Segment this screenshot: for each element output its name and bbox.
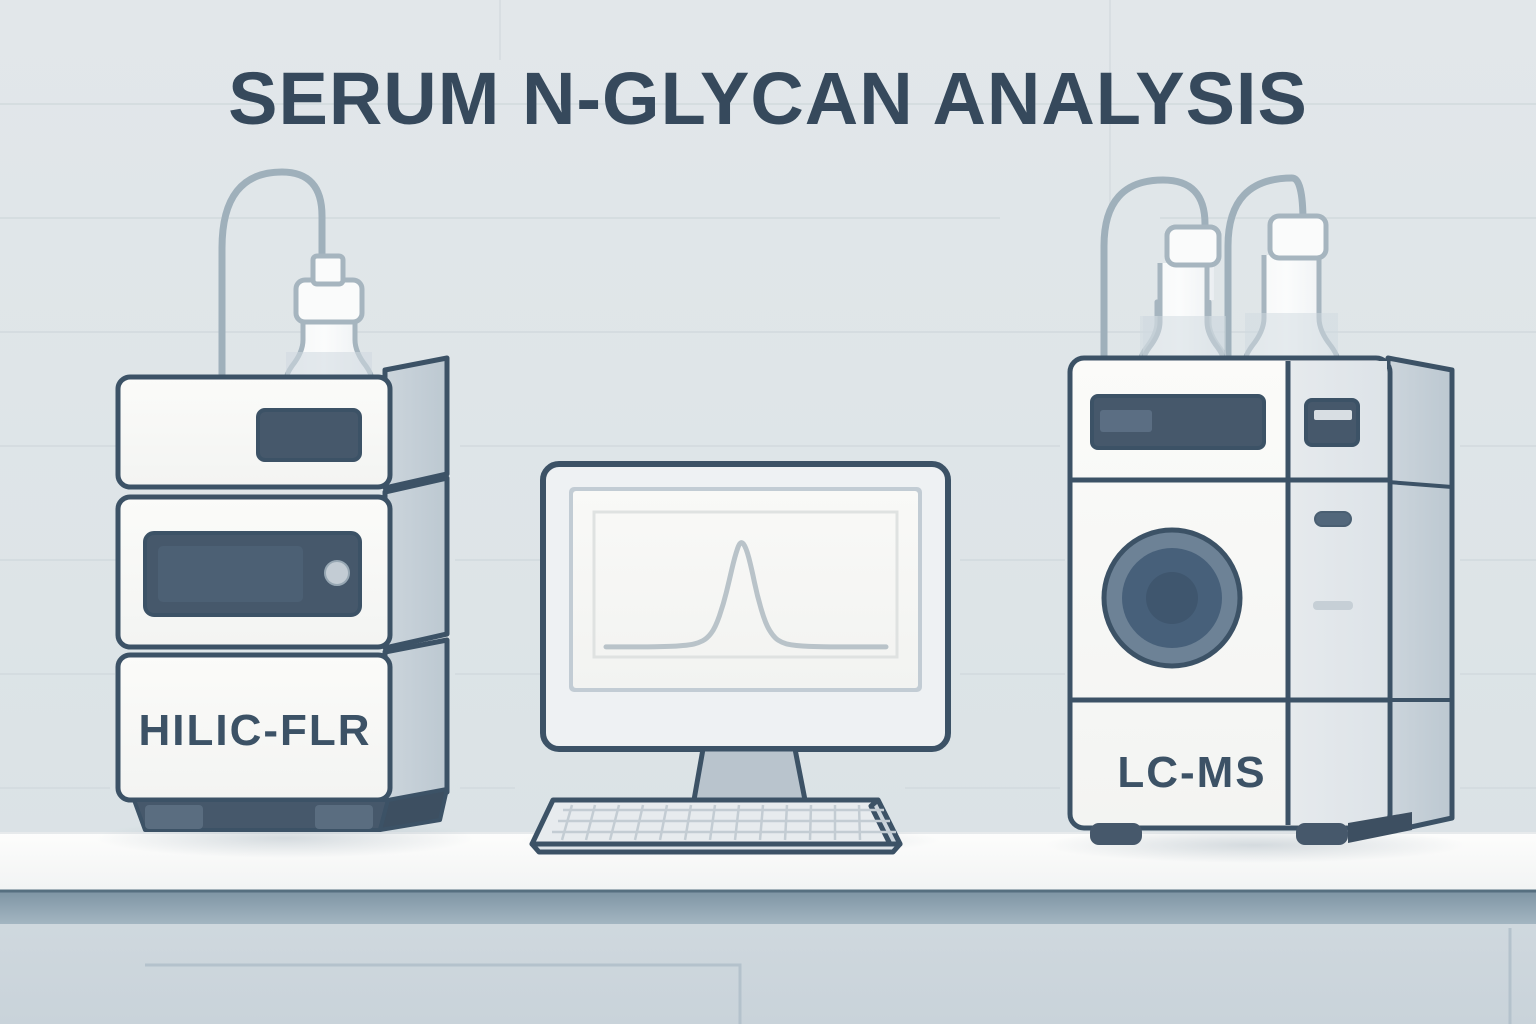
foot-right <box>1296 823 1348 845</box>
lab-illustration-scene: SERUM N-GLYCAN ANALYSIS <box>0 0 1536 1024</box>
lc-ms-module-button[interactable] <box>1306 400 1358 445</box>
foot-left <box>1090 823 1142 845</box>
bottle-right-cap <box>1270 216 1326 258</box>
lc-ms-display-highlight <box>1100 410 1152 432</box>
lc-ms-side-panel <box>1388 358 1452 832</box>
lc-ms-label: LC-MS <box>1117 748 1266 797</box>
lc-ms-instrument[interactable]: LC-MS <box>0 0 1536 1024</box>
bottle-right-liquid <box>1245 313 1338 358</box>
lc-ms-vent-bar <box>1313 601 1353 610</box>
ion-source-port[interactable] <box>1104 530 1240 666</box>
lc-ms-module-indicator <box>1314 410 1352 420</box>
lc-ms-slot-button[interactable] <box>1315 512 1351 526</box>
